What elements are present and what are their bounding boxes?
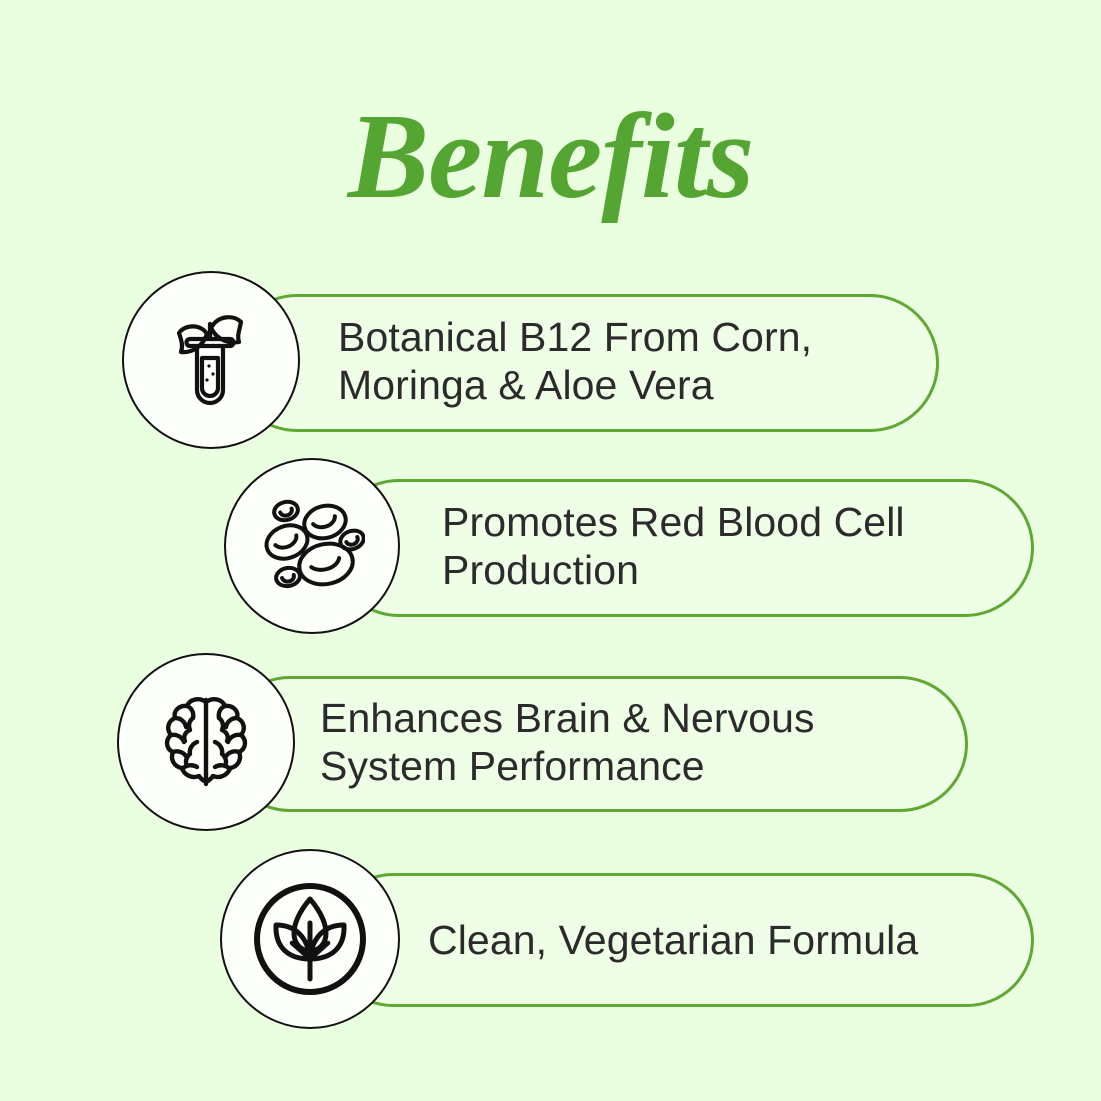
- benefit-icon-circle-3: [117, 653, 295, 831]
- benefit-text-4: Clean, Vegetarian Formula: [428, 916, 1028, 964]
- benefit-icon-circle-2: [224, 458, 400, 634]
- benefit-text-3: Enhances Brain & Nervous System Performa…: [320, 694, 960, 790]
- benefits-infographic: Benefits Botanical B12 From Corn, Moring…: [0, 0, 1101, 1101]
- benefit-icon-circle-4: [220, 849, 400, 1029]
- benefit-text-2: Promotes Red Blood Cell Production: [442, 498, 1027, 594]
- leaf-in-circle-icon: [246, 875, 374, 1003]
- test-tube-plant-icon: [159, 308, 263, 412]
- benefit-icon-circle-1: [122, 271, 300, 449]
- brain-icon: [154, 690, 258, 794]
- red-blood-cells-icon: [259, 494, 365, 598]
- page-title: Benefits: [0, 96, 1101, 218]
- benefit-text-1: Botanical B12 From Corn, Moringa & Aloe …: [338, 313, 928, 409]
